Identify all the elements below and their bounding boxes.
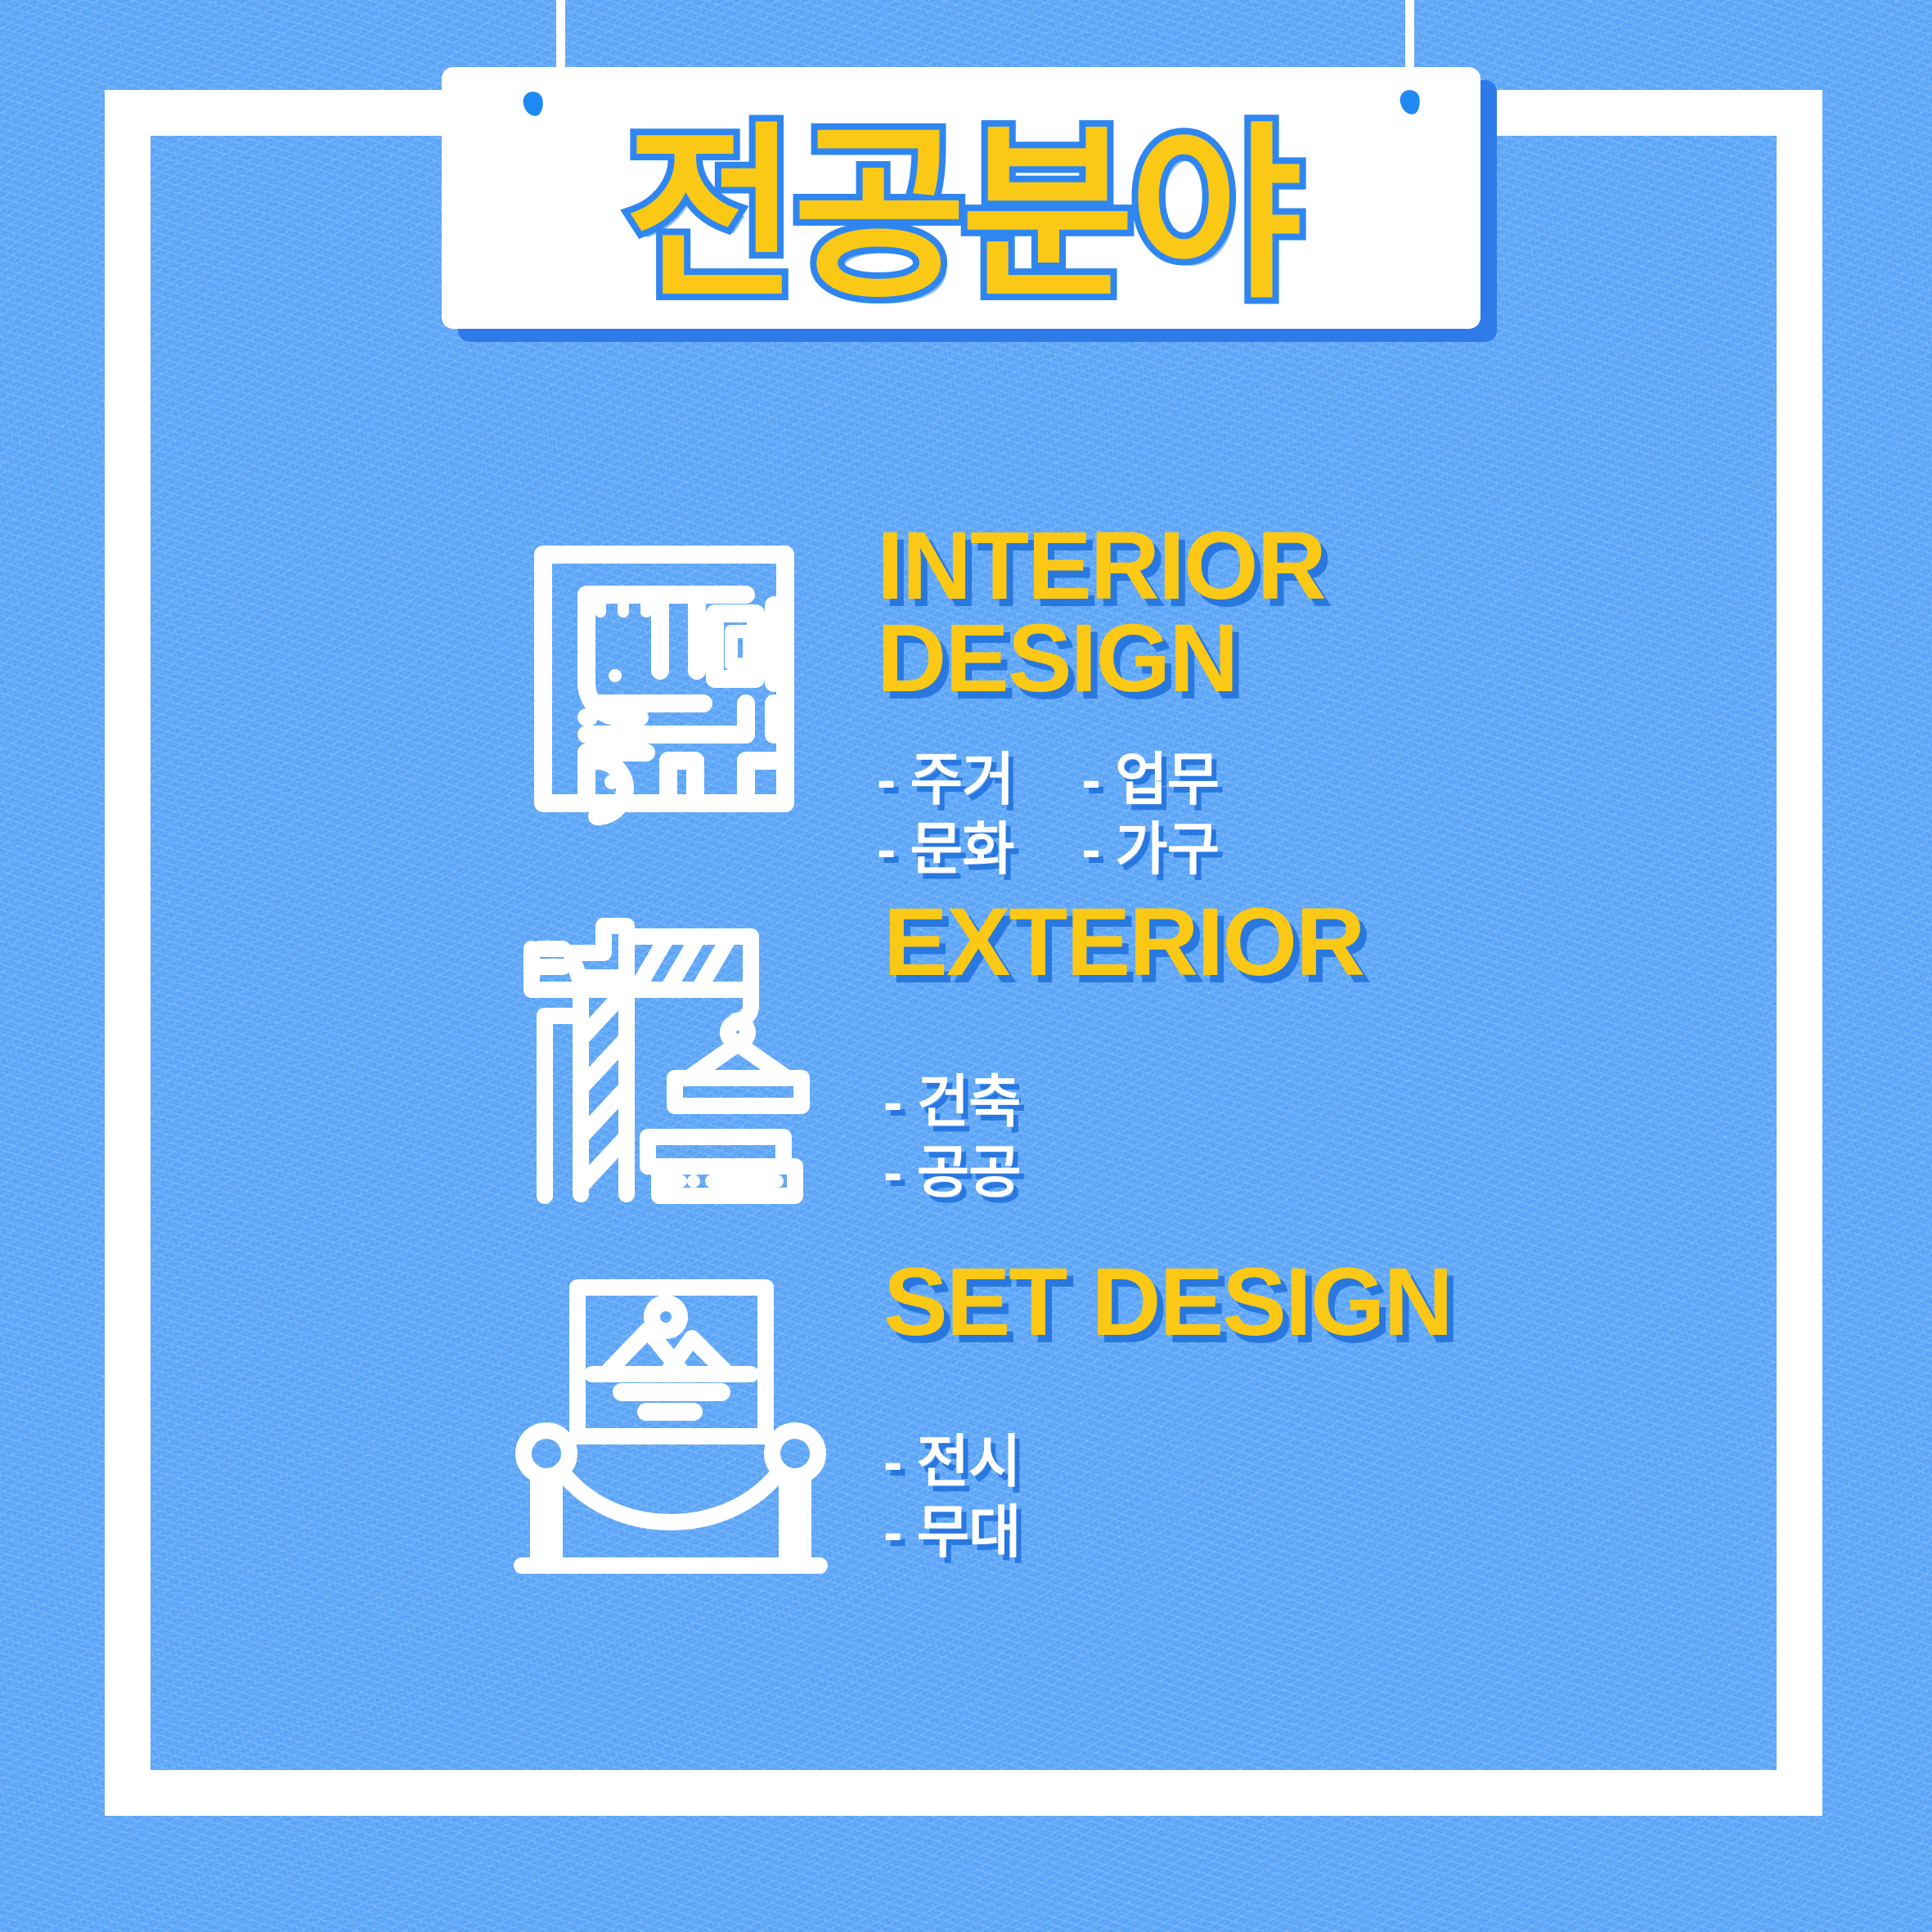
section-1-text: INTERIOR DESIGN - 주거 - 업무 - 문화 - 가구 [877, 515, 1325, 884]
section-2-bullet-2: - 공공 [883, 1140, 1021, 1204]
section-3-bullet-2: - 무대 [883, 1500, 1021, 1564]
section-1-bullets: - 주거 - 업무 - 문화 - 가구 [877, 745, 1325, 885]
section-2-text: EXTERIOR - 건축 - 공공 [883, 892, 1364, 1207]
section-3-text: SET DESIGN - 전시 - 무대 [883, 1251, 1452, 1567]
poster-canvas: 전공분야 [0, 0, 1932, 1932]
section-2-heading-line1: EXTERIOR [883, 896, 1364, 989]
section-exterior: EXTERIOR - 건축 - 공공 [507, 892, 1364, 1219]
page-title: 전공분야 [442, 67, 1480, 329]
section-set-design: SET DESIGN - 전시 - 무대 [507, 1251, 1452, 1579]
section-3-heading-line1: SET DESIGN [883, 1256, 1452, 1349]
section-1-heading-line1: INTERIOR [877, 520, 1325, 613]
section-1-bullet-4: - 가구 [1081, 817, 1219, 881]
section-1-bullet-1: - 주거 [877, 748, 1014, 811]
section-3-bullet-1: - 전시 [883, 1430, 1021, 1494]
section-1-heading-line2: DESIGN [877, 613, 1325, 705]
tower-crane-icon [507, 892, 834, 1219]
section-2-bullets: - 건축 - 공공 [883, 1067, 1364, 1207]
section-1-bullet-2: - 업무 [1081, 748, 1219, 811]
section-interior-design: INTERIOR DESIGN - 주거 - 업무 - 문화 - 가구 [501, 515, 1325, 884]
exhibition-frame-icon [507, 1251, 834, 1579]
section-2-bullet-1: - 건축 [883, 1070, 1021, 1134]
floor-plan-icon [501, 515, 828, 842]
section-3-bullets: - 전시 - 무대 [883, 1427, 1452, 1567]
section-1-bullet-3: - 문화 [877, 817, 1014, 881]
